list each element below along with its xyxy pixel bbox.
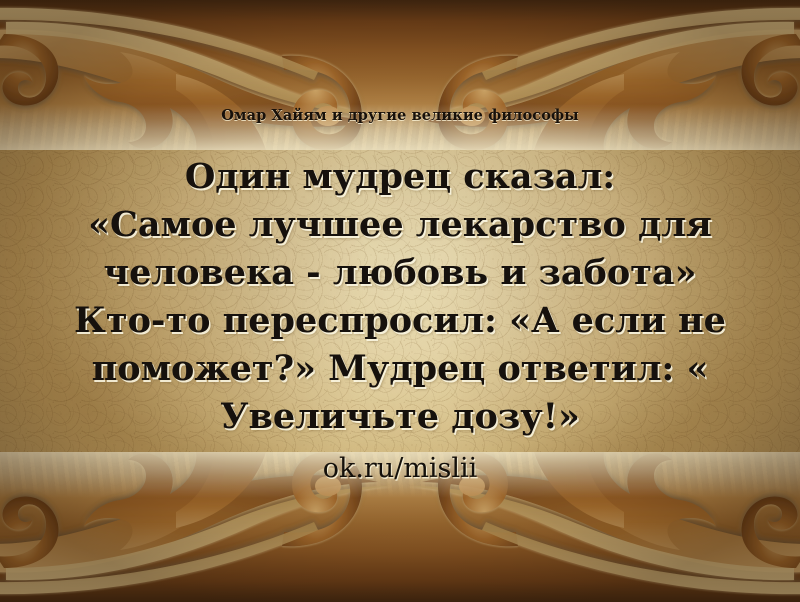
quote-card: Омар Хайям и другие великие философы Оди… [0,0,800,602]
source-link: ok.ru/mislii [0,453,800,484]
page-title: Омар Хайям и другие великие философы [0,107,800,124]
text-content: Омар Хайям и другие великие философы Оди… [0,0,800,602]
quote-text: Один мудрец сказал: «Самое лучшее лекарс… [28,153,772,441]
